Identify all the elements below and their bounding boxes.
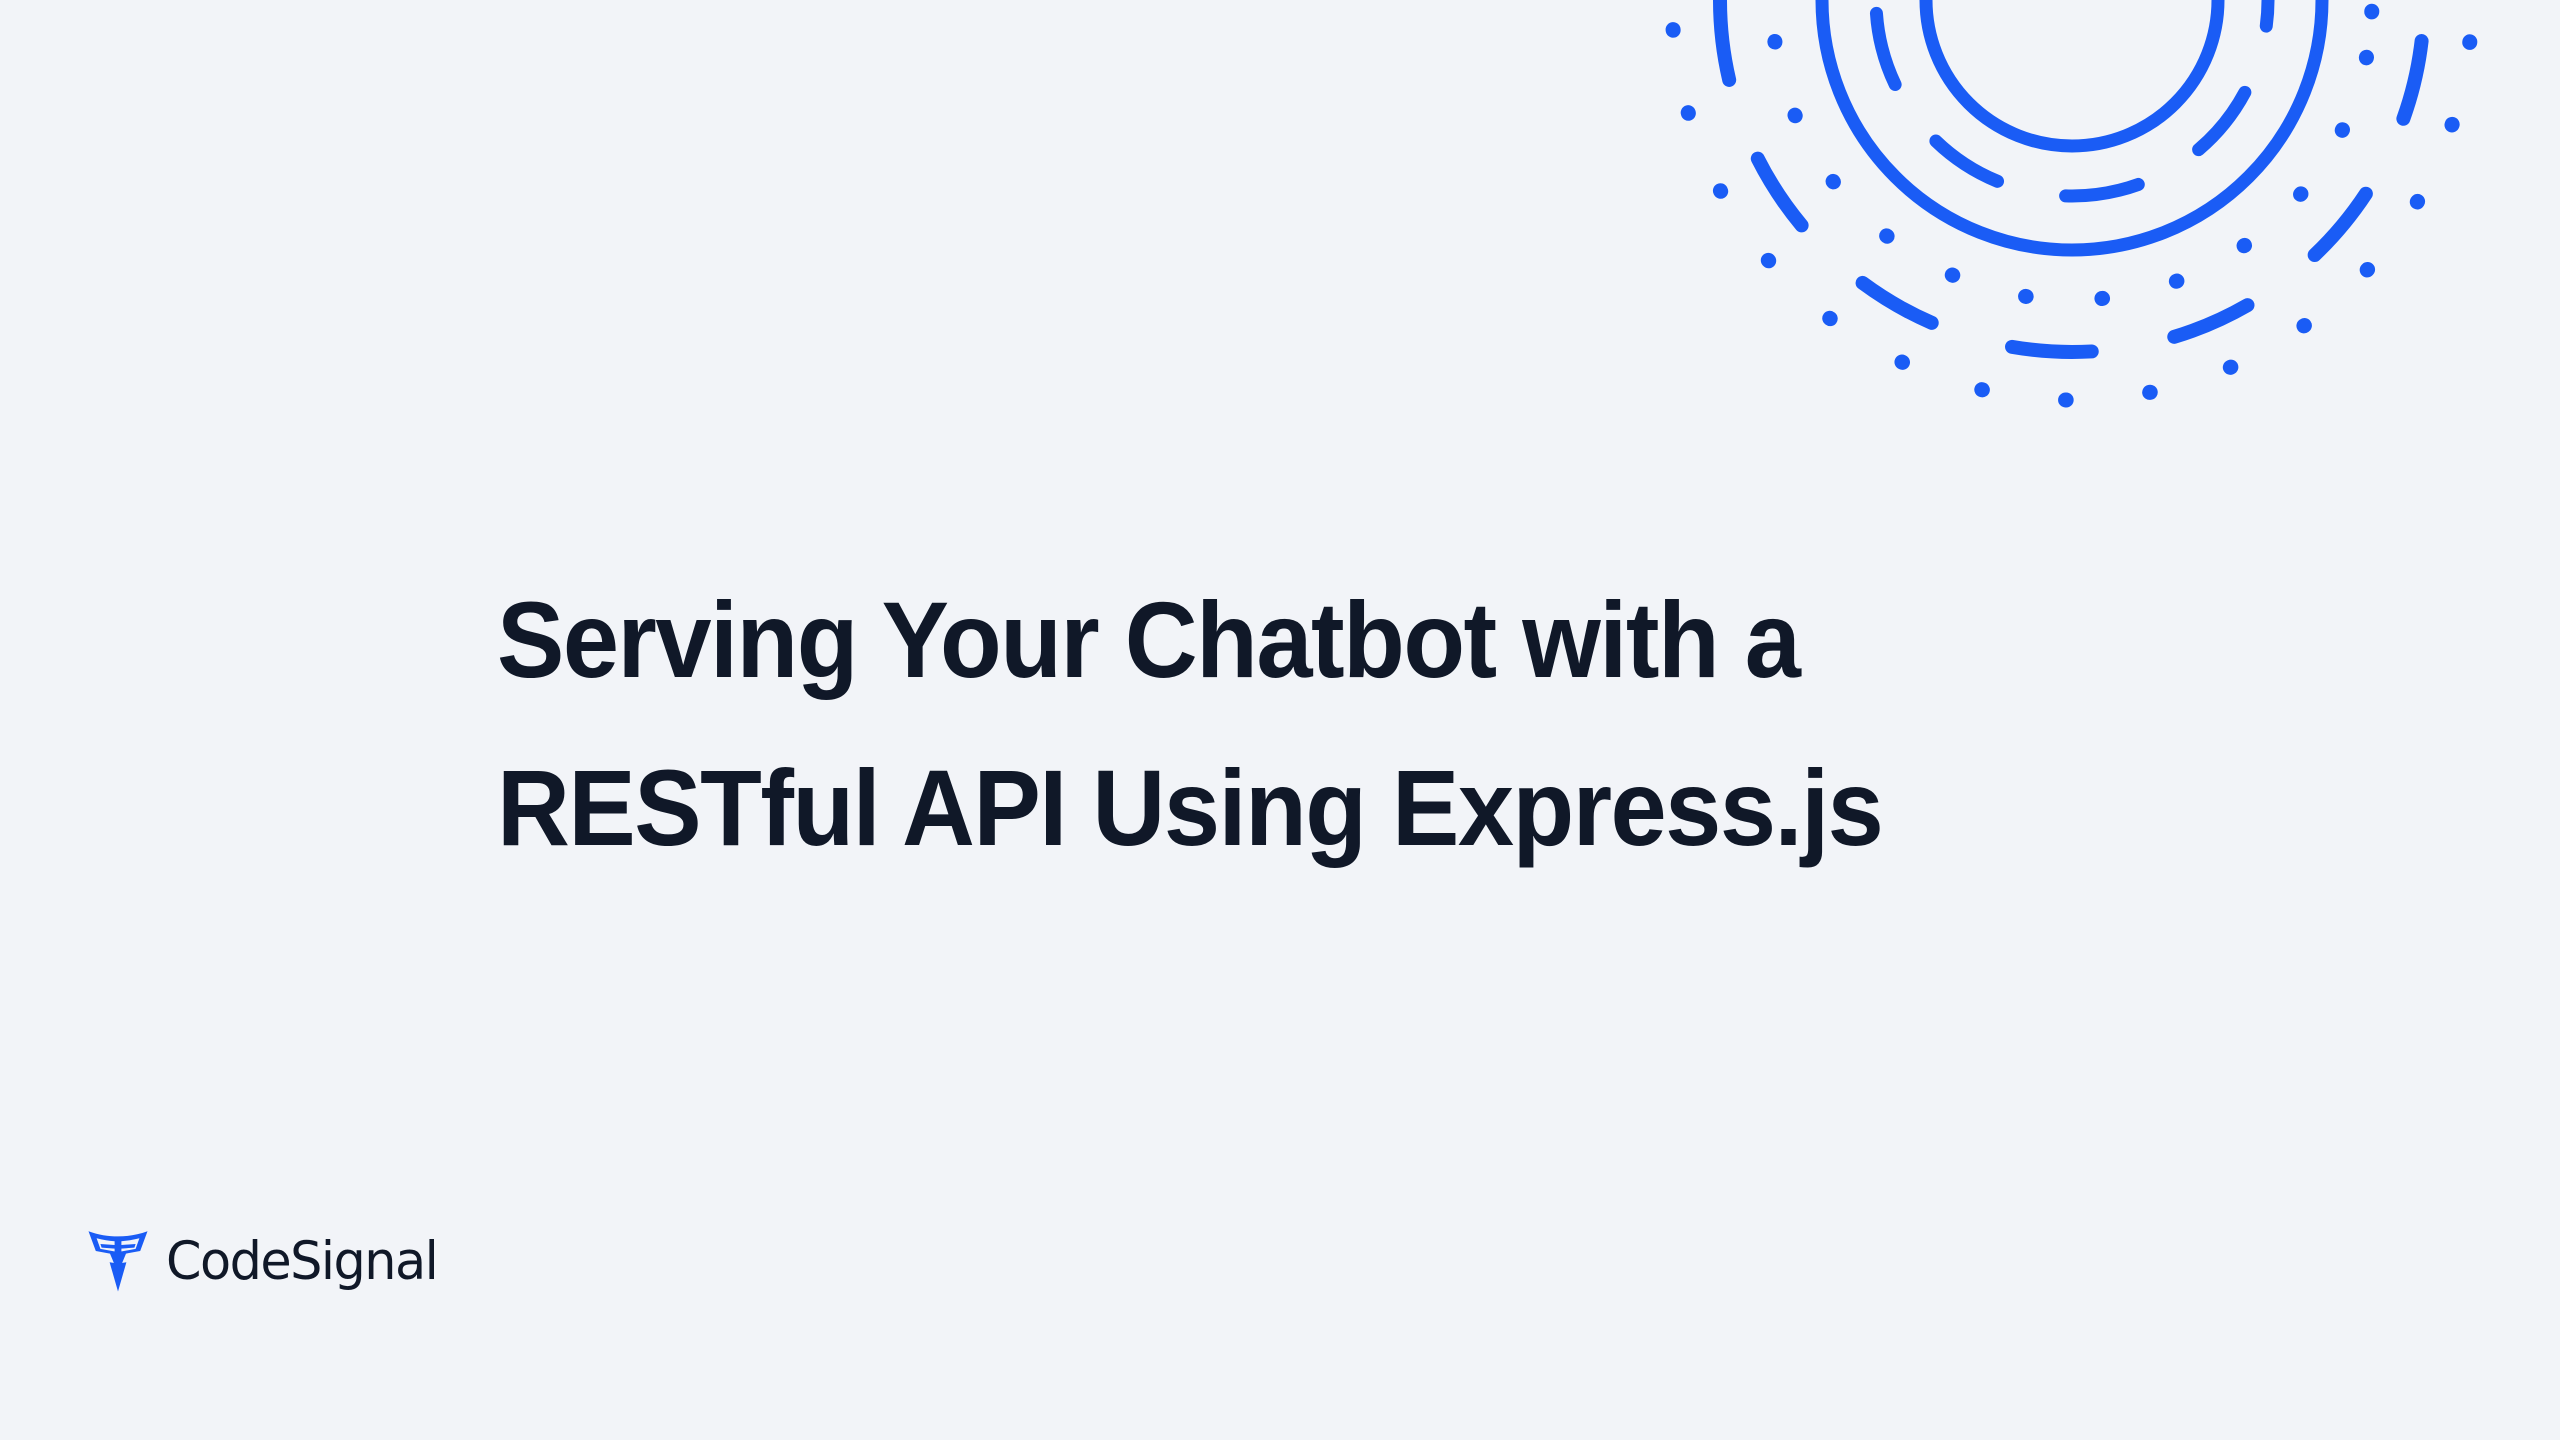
codesignal-logo[interactable]: CodeSignal — [88, 1226, 449, 1296]
page-title: Serving Your Chatbot with a RESTful API … — [497, 556, 2087, 892]
ring-dotted-1 — [1720, 0, 2423, 352]
ring-dashed-2 — [1642, 0, 2502, 430]
ring-dashed-1 — [1834, 0, 2309, 238]
ring-solid-inner — [1926, 0, 2218, 146]
ring-solid-mid — [1822, 0, 2322, 250]
concentric-rings-decoration — [1642, 0, 2502, 430]
codesignal-wing-icon — [88, 1229, 148, 1293]
ring-dotted-2 — [1642, 0, 2502, 430]
title-slide: Serving Your Chatbot with a RESTful API … — [0, 0, 2560, 1440]
page-title-line-2: RESTful API Using Express.js — [497, 724, 2087, 892]
page-title-line-1: Serving Your Chatbot with a — [497, 556, 2087, 724]
codesignal-wordmark: CodeSignal — [166, 1235, 437, 1288]
